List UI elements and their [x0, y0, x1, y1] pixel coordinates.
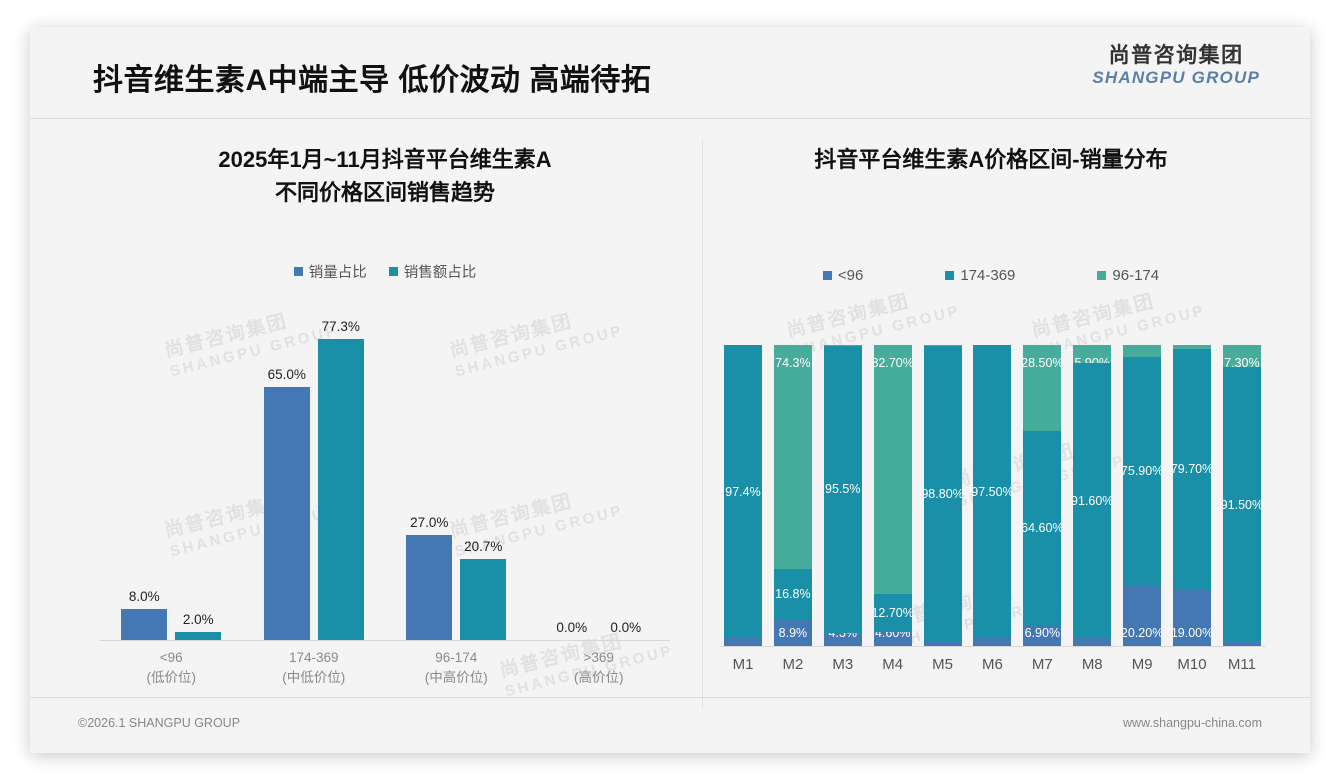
left-chart-title-line2: 不同价格区间销售趋势 [70, 176, 700, 209]
stacked-segment[interactable]: 7.30% [1223, 345, 1261, 367]
legend-item-low-price[interactable]: <96 [823, 267, 863, 284]
x-axis-tick: >369(高价位) [530, 648, 667, 689]
legend-item-sales-volume[interactable]: 销量占比 [294, 261, 367, 282]
stacked-bar-x-axis: M1M2M3M4M5M6M7M8M9M10M11 [720, 647, 1265, 689]
stacked-bar-column[interactable]: 0.40%98.80%1.80% [924, 345, 962, 646]
stacked-segment[interactable]: 95.5% [824, 346, 862, 633]
stacked-segment[interactable]: 97.4% [724, 345, 762, 638]
bar-rect[interactable] [460, 559, 506, 640]
stacked-bar-column[interactable]: 3.90%75.90%20.20% [1123, 345, 1161, 646]
stacked-segment[interactable]: 97.50% [973, 345, 1011, 638]
stacked-segment[interactable]: 12.70% [874, 594, 912, 632]
bar-value-label: 20.7% [464, 539, 502, 554]
x-axis-tick: M2 [774, 656, 812, 689]
bar-value-label: 0.0% [610, 620, 641, 635]
segment-value-label: 28.50% [1023, 356, 1061, 370]
stacked-segment[interactable]: 82.70% [874, 345, 912, 594]
stacked-bar-column[interactable]: 97.50%2.50% [973, 345, 1011, 646]
x-tick-sublabel: (高价位) [530, 668, 667, 688]
segment-value-label: 12.70% [874, 606, 912, 620]
segment-value-label: 8.9% [779, 626, 808, 640]
segment-value-label: 6.90% [1025, 626, 1060, 640]
slide-header: 抖音维生素A中端主导 低价波动 高端待拓 尚普咨询集团 SHANGPU GROU… [30, 27, 1310, 119]
segment-value-label: 4.60% [875, 632, 910, 640]
stacked-bar-column[interactable]: 5.90%91.60%2.50% [1073, 345, 1111, 646]
bar-rect[interactable] [175, 632, 221, 640]
stacked-segment[interactable]: 16.8% [774, 569, 812, 620]
stacked-bar-column[interactable]: 28.50%64.60%6.90% [1023, 345, 1061, 646]
grouped-bar-x-axis: <96(低价位)174-369(中低价位)96-174(中高价位)>369(高价… [100, 641, 670, 689]
legend-swatch-icon [823, 271, 832, 280]
x-tick-label: <96 [103, 648, 240, 668]
stacked-bar-column[interactable]: 7.30%91.50%1.20% [1223, 345, 1261, 646]
stacked-segment[interactable]: 91.60% [1073, 363, 1111, 639]
x-axis-tick: M8 [1073, 656, 1111, 689]
stacked-segment[interactable]: 98.80% [924, 346, 962, 640]
legend-item-mid-low-price[interactable]: 174-369 [945, 267, 1015, 284]
stacked-segment[interactable]: 6.90% [1023, 625, 1061, 646]
bar-value-label: 77.3% [322, 319, 360, 334]
x-axis-tick: 174-369(中低价位) [245, 648, 382, 689]
bar-value-label: 65.0% [268, 367, 306, 382]
stacked-segment[interactable]: 64.60% [1023, 431, 1061, 625]
bar-rect[interactable] [406, 535, 452, 640]
bar-value-label: 8.0% [129, 589, 160, 604]
footer-website: www.shangpu-china.com [1123, 716, 1262, 730]
stacked-bar-plot-area: 0.1%97.4%2.6%74.3%16.8%8.9%0.2%95.5%4.3%… [720, 319, 1265, 647]
x-axis-tick: M7 [1023, 656, 1061, 689]
segment-value-label: 19.00% [1173, 626, 1211, 640]
legend-swatch-icon [945, 271, 954, 280]
stacked-bar-column[interactable]: 0.1%97.4%2.6% [724, 345, 762, 646]
bar-column[interactable]: 65.0% [264, 309, 310, 640]
segment-value-label: 7.30% [1224, 356, 1259, 367]
stacked-segment[interactable]: 2.6% [724, 638, 762, 646]
legend-label: 销量占比 [309, 261, 367, 282]
x-tick-label: 96-174 [388, 648, 525, 668]
x-axis-tick: 96-174(中高价位) [388, 648, 525, 689]
stacked-segment[interactable]: 1.20% [1223, 642, 1261, 646]
legend-item-sales-amount[interactable]: 销售额占比 [389, 261, 477, 282]
bar-value-label: 27.0% [410, 515, 448, 530]
bar-column[interactable]: 2.0% [175, 309, 221, 640]
stacked-segment[interactable]: 5.90% [1073, 345, 1111, 363]
x-axis-tick: M6 [973, 656, 1011, 689]
bar-column[interactable]: 20.7% [460, 309, 506, 640]
stacked-bar-column[interactable]: 74.3%16.8%8.9% [774, 345, 812, 646]
stacked-bar-column[interactable]: 82.70%12.70%4.60% [874, 345, 912, 646]
stacked-segment[interactable]: 8.9% [774, 619, 812, 646]
stacked-segment[interactable]: 2.50% [1073, 638, 1111, 646]
bar-column[interactable]: 77.3% [318, 309, 364, 640]
x-axis-tick: M5 [924, 656, 962, 689]
x-axis-tick: M9 [1123, 656, 1161, 689]
bar-column[interactable]: 27.0% [406, 309, 452, 640]
brand-logo: 尚普咨询集团 SHANGPU GROUP [1092, 45, 1260, 87]
segment-value-label: 91.60% [1073, 494, 1111, 508]
stacked-bar-chart: 0.1%97.4%2.6%74.3%16.8%8.9%0.2%95.5%4.3%… [720, 319, 1265, 689]
x-axis-tick: M3 [824, 656, 862, 689]
segment-value-label: 20.20% [1123, 626, 1161, 640]
segment-value-label: 97.50% [973, 485, 1011, 499]
right-chart-title: 抖音平台维生素A价格区间-销量分布 [702, 143, 1280, 176]
slide: 抖音维生素A中端主导 低价波动 高端待拓 尚普咨询集团 SHANGPU GROU… [30, 27, 1310, 753]
stacked-bar-column[interactable]: 1.40%79.70%19.00% [1173, 345, 1211, 646]
bar-column[interactable]: 8.0% [121, 309, 167, 640]
x-axis-tick: M4 [874, 656, 912, 689]
x-tick-label: 174-369 [245, 648, 382, 668]
legend-swatch-icon [1097, 271, 1106, 280]
slide-footer: ©2026.1 SHANGPU GROUP www.shangpu-china.… [30, 697, 1310, 753]
bar-column[interactable]: 0.0% [603, 309, 649, 640]
left-chart-title: 2025年1月~11月抖音平台维生素A 不同价格区间销售趋势 [70, 143, 700, 209]
x-axis-tick: M10 [1173, 656, 1211, 689]
bar-group: 27.0%20.7% [388, 309, 525, 640]
stacked-segment[interactable]: 1.80% [924, 641, 962, 646]
x-axis-tick: <96(低价位) [103, 648, 240, 689]
stacked-segment[interactable]: 75.90% [1123, 357, 1161, 585]
x-tick-sublabel: (低价位) [103, 668, 240, 688]
segment-value-label: 4.3% [829, 633, 858, 640]
bar-value-label: 0.0% [556, 620, 587, 635]
bar-value-label: 2.0% [183, 612, 214, 627]
footer-copyright: ©2026.1 SHANGPU GROUP [78, 716, 240, 730]
bar-rect[interactable] [264, 387, 310, 640]
legend-label: 96-174 [1112, 267, 1159, 284]
segment-value-label: 82.70% [874, 356, 912, 370]
legend-swatch-icon [294, 267, 303, 276]
grouped-bar-chart: 8.0%2.0%65.0%77.3%27.0%20.7%0.0%0.0% <96… [100, 309, 670, 689]
bar-group: 8.0%2.0% [103, 309, 240, 640]
stacked-segment[interactable]: 3.90% [1123, 345, 1161, 357]
left-chart-panel: 2025年1月~11月抖音平台维生素A 不同价格区间销售趋势 销量占比 销售额占… [70, 119, 700, 719]
logo-english-name: SHANGPU GROUP [1092, 69, 1260, 87]
stacked-segment[interactable]: 79.70% [1173, 349, 1211, 589]
bar-group: 0.0%0.0% [530, 309, 667, 640]
left-chart-legend: 销量占比 销售额占比 [70, 261, 700, 282]
segment-value-label: 75.90% [1123, 464, 1161, 478]
right-chart-legend: <96 174-369 96-174 [702, 267, 1280, 284]
segment-value-label: 2.6% [729, 638, 758, 640]
stacked-segment[interactable]: 2.50% [973, 638, 1011, 646]
segment-value-label: 95.5% [825, 482, 860, 496]
grouped-bar-plot-area: 8.0%2.0%65.0%77.3%27.0%20.7%0.0%0.0% [100, 309, 670, 641]
x-axis-tick: M11 [1223, 656, 1261, 689]
bar-group: 65.0%77.3% [245, 309, 382, 640]
left-chart-title-line1: 2025年1月~11月抖音平台维生素A [70, 143, 700, 176]
segment-value-label: 98.80% [924, 487, 962, 501]
stacked-segment[interactable]: 19.00% [1173, 589, 1211, 646]
legend-item-mid-high-price[interactable]: 96-174 [1097, 267, 1159, 284]
segment-value-label: 79.70% [1173, 462, 1211, 476]
bar-rect[interactable] [121, 609, 167, 640]
stacked-segment[interactable]: 4.60% [874, 632, 912, 646]
segment-value-label: 91.50% [1223, 498, 1261, 512]
stacked-segment[interactable]: 20.20% [1123, 585, 1161, 646]
segment-value-label: 16.8% [775, 587, 810, 601]
logo-chinese-name: 尚普咨询集团 [1092, 45, 1260, 68]
stacked-bar-column[interactable]: 0.2%95.5%4.3% [824, 345, 862, 646]
legend-label: 销售额占比 [404, 261, 477, 282]
segment-value-label: 2.50% [975, 638, 1010, 640]
segment-value-label: 2.50% [1075, 638, 1110, 640]
legend-label: 174-369 [960, 267, 1015, 284]
x-tick-label: >369 [530, 648, 667, 668]
segment-value-label: 64.60% [1023, 521, 1061, 535]
x-tick-sublabel: (中高价位) [388, 668, 525, 688]
bar-rect[interactable] [318, 339, 364, 640]
segment-value-label: 97.4% [725, 485, 760, 499]
right-chart-panel: 抖音平台维生素A价格区间-销量分布 <96 174-369 96-174 尚普咨… [702, 119, 1280, 719]
x-tick-sublabel: (中低价位) [245, 668, 382, 688]
x-axis-tick: M1 [724, 656, 762, 689]
page-title: 抖音维生素A中端主导 低价波动 高端待拓 [93, 55, 651, 99]
stacked-segment[interactable]: 74.3% [774, 345, 812, 569]
bar-column[interactable]: 0.0% [549, 309, 595, 640]
stacked-segment[interactable]: 91.50% [1223, 367, 1261, 642]
legend-label: <96 [838, 267, 863, 284]
segment-value-label: 5.90% [1075, 356, 1110, 363]
stacked-segment[interactable]: 4.3% [824, 633, 862, 646]
stacked-segment[interactable]: 28.50% [1023, 345, 1061, 431]
legend-swatch-icon [389, 267, 398, 276]
segment-value-label: 74.3% [775, 356, 810, 370]
